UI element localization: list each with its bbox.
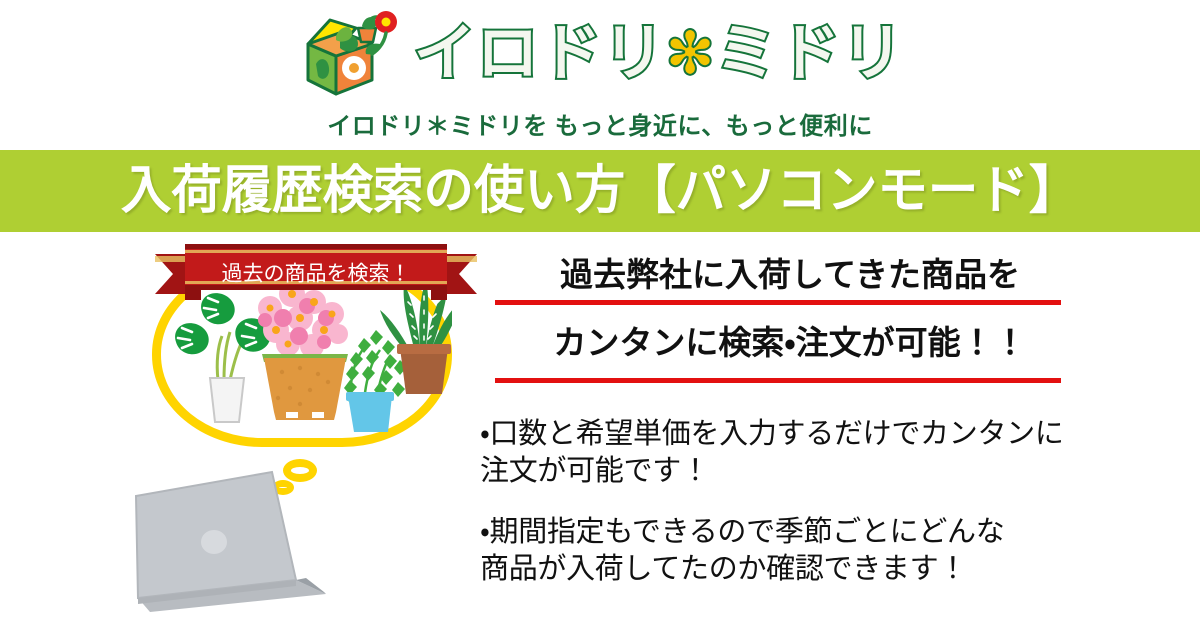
bullet-2-line-1: ・期間指定もできるので季節ごとにどんな [480,514,1140,551]
page-title-banner: 入荷履歴検索の使い方【パソコンモード】 [0,150,1200,232]
page-title: 入荷履歴検索の使い方【パソコンモード】 [121,165,1079,217]
ribbon-label: 過去の商品を検索！ [222,263,411,286]
headline-rule-1 [495,300,1061,305]
illustration-area: 過去の商品を検索！ [0,232,470,630]
bullet-item-1: ・口数と希望単価を入力するだけでカンタンに 注文が可能です！ [480,416,1140,490]
site-header: イロドリ✻ミドリ イロドリ＊ミドリを もっと身近に、もっと便利に [0,0,1200,150]
brand-name-part2: ミドリ [715,23,904,85]
seed-box-plant-logo-icon [296,6,404,102]
brand-wordmark: イロドリ✻ミドリ [414,23,905,85]
brand-tagline: イロドリ＊ミドリを もっと身近に、もっと便利に [327,106,872,141]
brand-logo[interactable]: イロドリ✻ミドリ [296,4,905,104]
bullet-2-line-2: 商品が入荷してたのか確認できます！ [480,551,1140,588]
monstera-plant [175,293,271,422]
copy-area: 過去弊社に入荷してきた商品を カンタンに検索・注文が可能！！ ・口数と希望単価を… [470,232,1200,630]
bullet-1-line-1: ・口数と希望単価を入力するだけでカンタンに [480,416,1140,453]
headline-line-1: 過去弊社に入荷してきた商品を [495,258,1085,291]
promo-banner-page: イロドリ✻ミドリ イロドリ＊ミドリを もっと身近に、もっと便利に 入荷履歴検索の… [0,0,1200,630]
bullet-1-line-2: 注文が可能です！ [480,453,1140,490]
brand-asterisk: ✻ [666,25,716,83]
ribbon-banner: 過去の商品を検索！ [155,244,477,300]
bullet-item-2: ・期間指定もできるので季節ごとにどんな 商品が入荷してたのか確認できます！ [480,514,1140,588]
headline-rule-2 [495,378,1061,383]
pink-flower-pot [258,281,348,420]
laptop-illustration [110,454,410,630]
headline-line-2: カンタンに検索・注文が可能！！ [495,326,1085,359]
brand-name-part1: イロドリ [414,23,666,85]
